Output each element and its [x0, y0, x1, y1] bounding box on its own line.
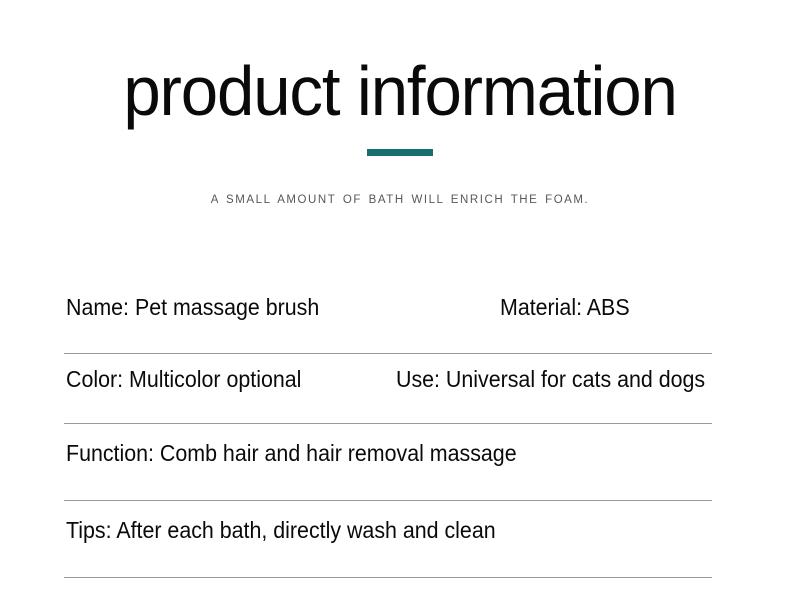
row-divider [64, 577, 712, 578]
accent-rule-container [0, 148, 800, 156]
row-cells: Name: Pet massage brush Material: ABS [64, 284, 712, 354]
spec-use-label: Use: Universal for cats and dogs [396, 364, 705, 394]
table-row: Color: Multicolor optional Use: Universa… [64, 354, 712, 424]
table-row: Function: Comb hair and hair removal mas… [64, 424, 712, 501]
slide-canvas: product information A SMALL AMOUNT OF BA… [0, 0, 800, 595]
header: product information A SMALL AMOUNT OF BA… [0, 52, 800, 208]
table-row: Tips: After each bath, directly wash and… [64, 501, 712, 578]
spec-name-label: Name: Pet massage brush [66, 292, 319, 322]
row-cells: Color: Multicolor optional Use: Universa… [64, 354, 712, 424]
spec-table: Name: Pet massage brush Material: ABS Co… [64, 284, 712, 578]
spec-tips-label: Tips: After each bath, directly wash and… [66, 515, 496, 545]
spec-material-label: Material: ABS [500, 292, 630, 322]
spec-function-label: Function: Comb hair and hair removal mas… [66, 438, 517, 468]
table-row: Name: Pet massage brush Material: ABS [64, 284, 712, 354]
spec-color-label: Color: Multicolor optional [66, 364, 301, 394]
row-cells: Function: Comb hair and hair removal mas… [64, 424, 712, 501]
subtitle: A SMALL AMOUNT OF BATH WILL ENRICH THE F… [0, 192, 800, 208]
teal-divider-bar [367, 149, 433, 156]
row-cells: Tips: After each bath, directly wash and… [64, 501, 712, 578]
page-title: product information [16, 52, 784, 130]
